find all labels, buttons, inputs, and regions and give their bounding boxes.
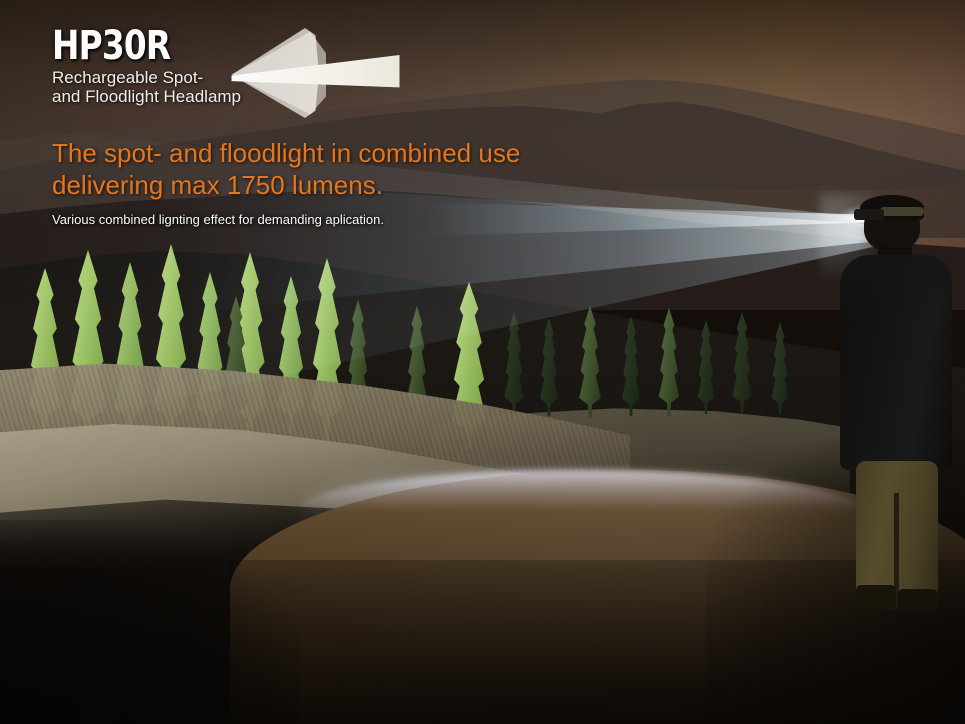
advertisement-banner: HP30R Rechargeable Spot- and Floodlight … xyxy=(0,0,965,724)
tree xyxy=(692,320,720,414)
tree xyxy=(766,322,794,414)
tree-crown xyxy=(726,312,758,414)
tree-crown xyxy=(498,312,530,416)
tree xyxy=(498,312,530,416)
spot-flood-beam-icon xyxy=(228,28,403,118)
tree-crown xyxy=(652,308,686,416)
person-boot-right xyxy=(898,589,938,611)
tree-crown xyxy=(616,316,646,416)
headlamp-strap xyxy=(880,207,924,216)
tree-crown xyxy=(692,320,720,414)
tree xyxy=(534,318,564,416)
tree-crown xyxy=(534,318,564,416)
subheadline: Various combined lignting effect for dem… xyxy=(52,211,612,228)
vignette-bottom-left xyxy=(0,520,300,724)
headline: The spot- and floodlight in combined use… xyxy=(52,137,672,201)
tree xyxy=(726,312,758,414)
product-tagline-line1: Rechargeable Spot- xyxy=(52,68,203,87)
person-boot-left xyxy=(856,585,896,609)
tree-crown xyxy=(572,306,608,418)
person-shoulders xyxy=(840,255,952,315)
product-tagline-line2: and Floodlight Headlamp xyxy=(52,87,241,106)
headline-line-1: The spot- and floodlight in combined use xyxy=(52,137,672,169)
tree xyxy=(616,316,646,416)
tree xyxy=(652,308,686,416)
headlamp-unit xyxy=(854,209,884,220)
person-with-headlamp xyxy=(836,193,958,608)
tree-crown xyxy=(766,322,794,414)
headline-line-2: delivering max 1750 lumens. xyxy=(52,169,672,201)
tree xyxy=(572,306,608,418)
